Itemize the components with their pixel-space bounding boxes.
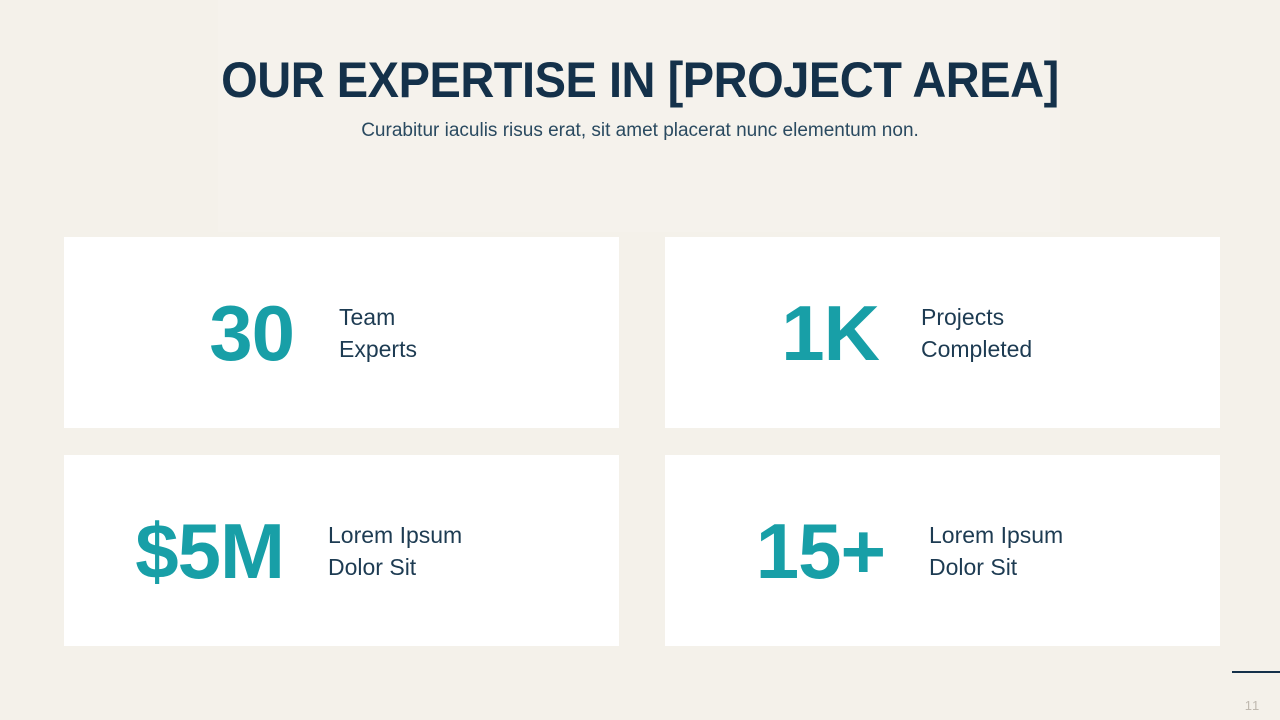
stat-label: Lorem Ipsum Dolor Sit	[885, 519, 1063, 583]
stat-value: $5M	[108, 512, 284, 590]
slide-header: OUR EXPERTISE IN [PROJECT AREA] Curabitu…	[0, 0, 1280, 144]
stat-value: 1K	[769, 294, 879, 372]
stats-card-grid: 30 Team Experts 1K Projects Completed $5…	[64, 237, 1220, 646]
page-number: 11	[1232, 698, 1273, 714]
page-subtitle: Curabitur iaculis risus erat, sit amet p…	[0, 118, 1280, 144]
stat-value: 30	[184, 294, 294, 372]
stat-card[interactable]: $5M Lorem Ipsum Dolor Sit	[64, 455, 619, 646]
page-title: OUR EXPERTISE IN [PROJECT AREA]	[38, 50, 1241, 110]
page-number-rule	[1232, 671, 1280, 673]
stat-value: 15+	[725, 512, 885, 590]
stat-card-content: 15+ Lorem Ipsum Dolor Sit	[665, 512, 1063, 590]
stat-label: Projects Completed	[879, 301, 1032, 365]
stat-card[interactable]: 30 Team Experts	[64, 237, 619, 428]
stat-card-content: 30 Team Experts	[64, 294, 417, 372]
stat-card-content: $5M Lorem Ipsum Dolor Sit	[64, 512, 462, 590]
stat-card-content: 1K Projects Completed	[665, 294, 1032, 372]
stat-card[interactable]: 15+ Lorem Ipsum Dolor Sit	[665, 455, 1220, 646]
stat-label: Team Experts	[294, 301, 417, 365]
stat-card[interactable]: 1K Projects Completed	[665, 237, 1220, 428]
stat-label: Lorem Ipsum Dolor Sit	[284, 519, 462, 583]
